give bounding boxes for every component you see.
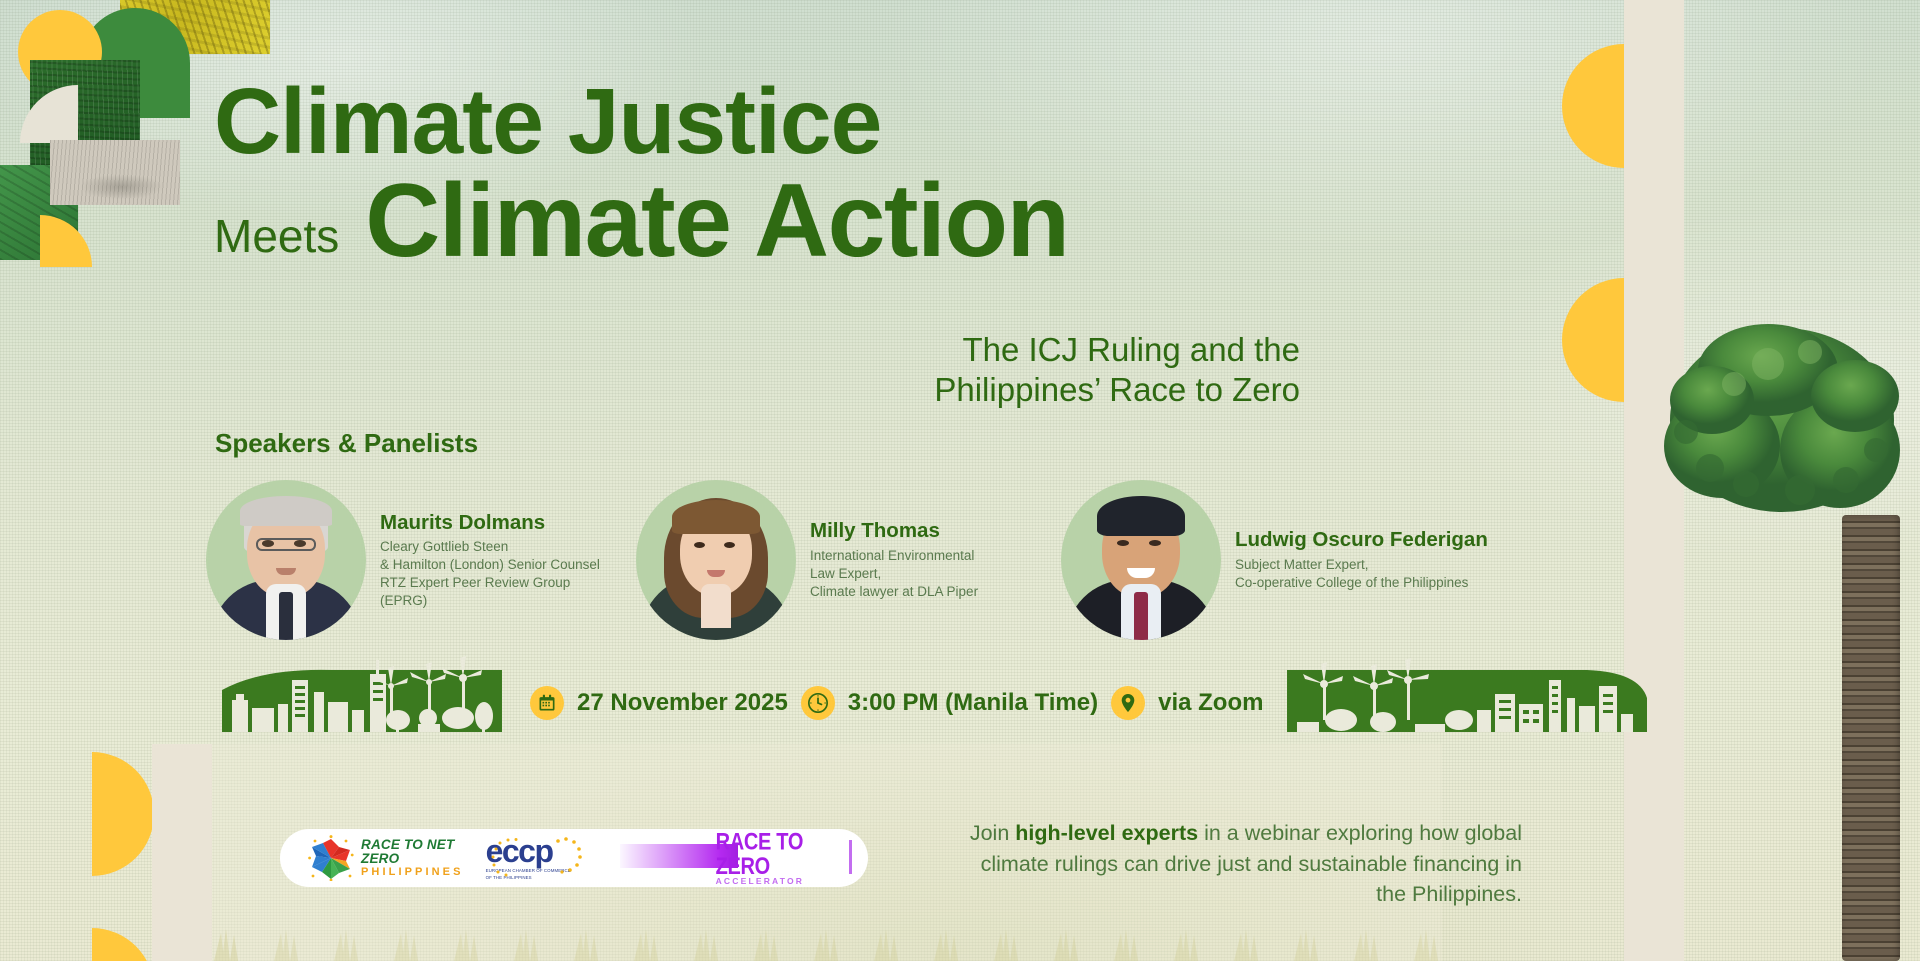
speakers-list: Maurits Dolmans Cleary Gottlieb Steen & … (206, 480, 1566, 640)
speaker-card: Maurits Dolmans Cleary Gottlieb Steen & … (206, 480, 636, 640)
event-date: 27 November 2025 (577, 689, 788, 717)
speaker-card: Ludwig Oscuro Federigan Subject Matter E… (1061, 480, 1541, 640)
partner-logos-strip: RACE TO NET ZERO PHILIPPINES eccp (280, 829, 868, 887)
speaker-role: Subject Matter Expert, Co-operative Coll… (1235, 556, 1488, 592)
webinar-poster: Climate Justice Meets Climate Action The… (0, 0, 1920, 961)
rtz-divider (849, 840, 852, 874)
city-skyline-right (1287, 680, 1647, 730)
headline-block: Climate Justice Meets Climate Action (214, 76, 1069, 273)
deco-yellow-quarter-circle (40, 215, 92, 267)
headline-line-1: Climate Justice (214, 76, 1069, 167)
avatar-maurits-dolmans (206, 480, 366, 640)
speaker-role-line: Subject Matter Expert, (1235, 556, 1488, 574)
speaker-name: Ludwig Oscuro Federigan (1235, 528, 1488, 553)
eccp-subline-1: EUROPEAN CHAMBER OF COMMERCE (486, 868, 598, 874)
logo-line-2: PHILIPPINES (361, 866, 464, 879)
coin-stack-trunk (1842, 515, 1900, 961)
speaker-card: Milly Thomas International Environmental… (636, 480, 1061, 640)
headline-meets: Meets (214, 213, 339, 273)
speaker-role-line: Law Expert, (810, 565, 978, 583)
logo-line-1: RACE TO ZERO (716, 830, 850, 879)
blurb-bold: high-level experts (1015, 821, 1198, 845)
avatar-milly-thomas (636, 480, 796, 640)
deco-yellow-half-circle-right-2 (1562, 278, 1624, 402)
clock-icon (801, 686, 835, 720)
avatar-ludwig-oscuro-federigan (1061, 480, 1221, 640)
speaker-role-line: & Hamilton (London) Senior Counsel (380, 556, 600, 574)
speaker-name: Maurits Dolmans (380, 511, 600, 536)
tree-canopy-icon (1650, 300, 1900, 550)
speaker-info: Maurits Dolmans Cleary Gottlieb Steen & … (366, 511, 600, 610)
eccp-wordmark: eccp (486, 835, 598, 867)
deco-grey-photo-tile (50, 140, 180, 205)
skyline-right-icon (1287, 646, 1647, 732)
skyline-left-icon (222, 646, 502, 732)
speaker-role-line: RTZ Expert Peer Review Group (380, 574, 600, 592)
logo-line-1: RACE TO NET ZERO (361, 838, 464, 866)
headline-line-2: Climate Action (365, 171, 1068, 273)
deco-cream-quarter-circle (20, 85, 78, 143)
speaker-role: Cleary Gottlieb Steen & Hamilton (London… (380, 538, 600, 609)
event-description: Join high-level experts in a webinar exp… (962, 818, 1522, 910)
logo-text-block: RACE TO ZERO ACCELERATOR (716, 830, 850, 886)
sun-burst-icon (308, 835, 354, 881)
event-details-bar: 27 November 2025 3:00 PM (Manila Time) v… (530, 686, 1263, 720)
speaker-role-line: Cleary Gottlieb Steen (380, 538, 600, 556)
subtitle-block: The ICJ Ruling and the Philippines’ Race… (600, 330, 1300, 411)
deco-yellow-half-circle-left-2 (92, 928, 154, 961)
speaker-role: International Environmental Law Expert, … (810, 547, 978, 600)
deco-yellow-half-circle-right-1 (1562, 44, 1624, 168)
event-location: via Zoom (1158, 689, 1263, 717)
event-time: 3:00 PM (Manila Time) (848, 689, 1098, 717)
money-tree (1680, 300, 1920, 961)
speaker-info: Milly Thomas International Environmental… (796, 519, 978, 600)
location-pin-icon (1111, 686, 1145, 720)
eccp-subline-2: OF THE PHILIPPINES (486, 875, 598, 881)
subtitle-line-2: Philippines’ Race to Zero (600, 370, 1300, 410)
blurb-part-1: Join (970, 821, 1015, 845)
city-skyline-left (222, 680, 502, 730)
logo-text-block: RACE TO NET ZERO PHILIPPINES (361, 838, 464, 879)
deco-cream-stripe-left (152, 744, 212, 961)
speaker-info: Ludwig Oscuro Federigan Subject Matter E… (1221, 528, 1488, 591)
subtitle-line-1: The ICJ Ruling and the (600, 330, 1300, 370)
speaker-role-line: Co-operative College of the Philippines (1235, 574, 1488, 592)
logo-race-to-zero-accelerator: RACE TO ZERO ACCELERATOR (620, 838, 850, 878)
logo-race-to-net-zero-philippines: RACE TO NET ZERO PHILIPPINES (308, 835, 464, 881)
speakers-heading: Speakers & Panelists (215, 428, 478, 459)
speaker-role-line: International Environmental (810, 547, 978, 565)
deco-yellow-half-circle-left-1 (92, 752, 154, 876)
speaker-name: Milly Thomas (810, 519, 978, 544)
speaker-role-line: Climate lawyer at DLA Piper (810, 583, 978, 601)
speaker-role-line: (EPRG) (380, 592, 600, 610)
logo-eccp: eccp EUROPEAN CHAMBER OF COMMERCE OF THE… (486, 835, 598, 881)
calendar-icon (530, 686, 564, 720)
